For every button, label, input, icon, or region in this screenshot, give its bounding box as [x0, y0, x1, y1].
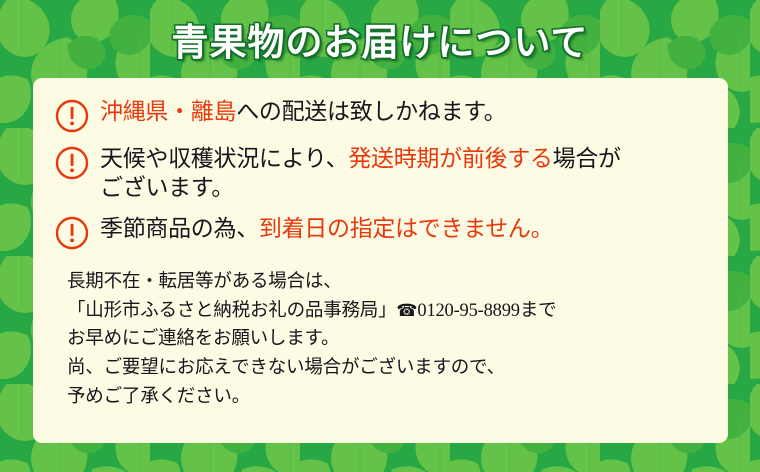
notice-accent-text: 到着日の指定はできません。 — [259, 216, 553, 241]
contact-note-line-4: 尚、ご要望にお応えできない場合がございますので、 — [67, 354, 706, 383]
contact-note: 長期不在・転居等がある場合は、 「山形市ふるさと納税お礼の品事務局」☎0120-… — [55, 268, 706, 411]
exclamation-circle-icon — [55, 216, 89, 250]
contact-note-line-2: 「山形市ふるさと納税お礼の品事務局」☎0120-95-8899まで — [67, 297, 706, 326]
notice-plain-text: 季節商品の為、 — [100, 216, 259, 241]
list-item: 天候や収穫状況により、発送時期が前後する場合が ございます。 — [55, 143, 706, 203]
telephone-icon: ☎ — [396, 301, 417, 321]
notice-plain-text: への配送は致しかねます。 — [236, 99, 506, 124]
contact-note-line-3: お早めにご連絡をお願いします。 — [67, 325, 706, 354]
notice-card: 沖縄県・離島への配送は致しかねます。 天候や収穫状況により、発送時期が前後する場… — [33, 78, 728, 443]
page-title: 青果物のお届けについて — [172, 12, 589, 66]
list-item: 沖縄県・離島への配送は致しかねます。 — [55, 96, 706, 133]
list-item: 季節商品の為、到着日の指定はできません。 — [55, 213, 706, 250]
notice-plain-text: 場合が — [553, 146, 621, 171]
contact-note-line-5: 予めご了承ください。 — [67, 383, 706, 412]
phone-number: 0120-95-8899 — [417, 301, 519, 321]
notice-accent-text: 沖縄県・離島 — [100, 99, 236, 124]
notice-plain-text: ございます。 — [100, 173, 621, 202]
notice-banner: 青果物のお届けについて 沖縄県・離島への配送は致しかねます。 — [0, 0, 760, 472]
notice-accent-text: 発送時期が前後する — [348, 146, 552, 171]
contact-note-line-1: 長期不在・転居等がある場合は、 — [67, 268, 706, 297]
notice-text: 天候や収穫状況により、発送時期が前後する場合が ございます。 — [100, 143, 621, 203]
notice-text: 季節商品の為、到着日の指定はできません。 — [100, 213, 553, 243]
office-name: 「山形市ふるさと納税お礼の品事務局」 — [67, 301, 396, 321]
exclamation-circle-icon — [55, 146, 89, 180]
phone-suffix: まで — [520, 301, 557, 321]
notice-plain-text: 天候や収穫状況により、 — [100, 146, 348, 171]
banner-title-bar: 青果物のお届けについて — [0, 0, 760, 78]
exclamation-circle-icon — [55, 99, 89, 133]
notice-text: 沖縄県・離島への配送は致しかねます。 — [100, 96, 506, 126]
notice-list: 沖縄県・離島への配送は致しかねます。 天候や収穫状況により、発送時期が前後する場… — [55, 96, 706, 250]
